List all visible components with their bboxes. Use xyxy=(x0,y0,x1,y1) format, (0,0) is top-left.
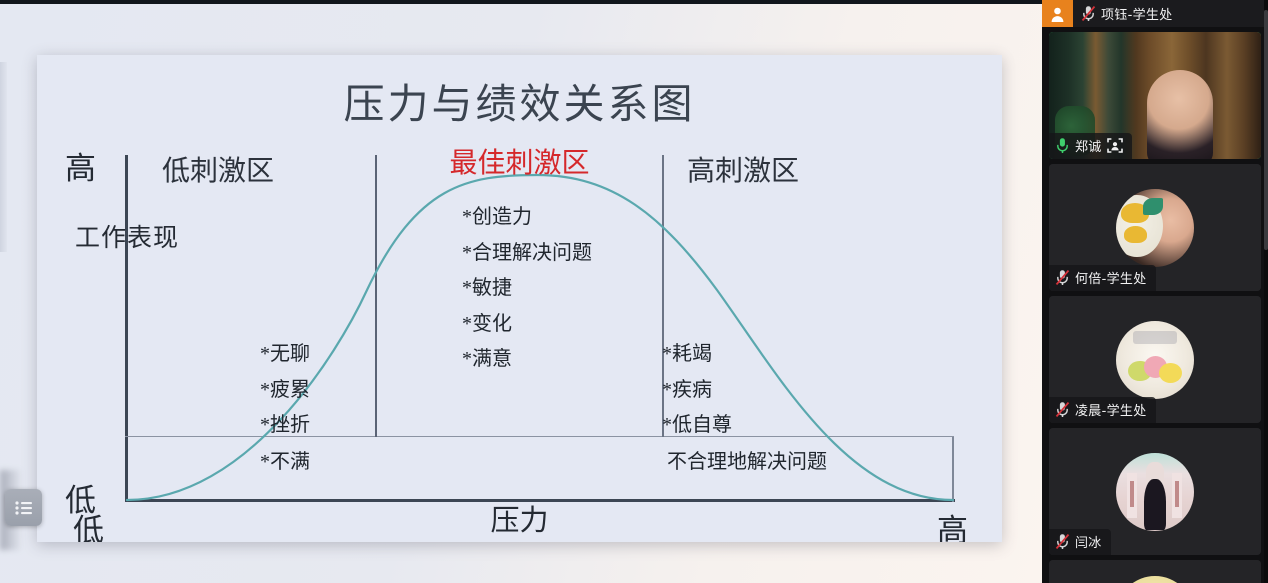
bullet-item: *耗竭 xyxy=(662,337,732,373)
participant-namebar: 闫冰 xyxy=(1049,529,1111,555)
bullet-item: *满意 xyxy=(462,342,592,378)
y-axis-title: 工作表现 xyxy=(75,225,101,253)
footer-note-high: 不合理地解决问题 xyxy=(667,445,827,474)
participant-tile[interactable]: 凌晨-学生处 xyxy=(1049,296,1261,423)
participant-name: 凌晨-学生处 xyxy=(1075,400,1147,419)
participant-tile-partial-bottom[interactable] xyxy=(1049,560,1261,583)
avatar xyxy=(1116,321,1194,399)
avatar xyxy=(1042,0,1073,27)
video-thumbnail xyxy=(1049,560,1261,583)
participant-name: 闫冰 xyxy=(1075,532,1102,551)
participant-tile[interactable]: 闫冰 xyxy=(1049,428,1261,555)
zone-label-optimal: 最佳刺激区 xyxy=(37,141,1002,181)
participant-tile-active-speaker[interactable]: 郑诚 xyxy=(1049,32,1261,159)
participant-namebar: 项钰-学生处 xyxy=(1073,4,1173,23)
footer-note-low: *不满 xyxy=(260,445,310,474)
presentation-slide[interactable]: 压力与绩效关系图 高 工作表现 低 低 xyxy=(37,55,1002,542)
mic-muted-icon xyxy=(1055,269,1070,286)
bullet-item: *变化 xyxy=(462,307,592,343)
participant-name: 郑诚 xyxy=(1075,136,1102,155)
bullet-item: *合理解决问题 xyxy=(462,236,592,272)
list-menu-icon-button[interactable] xyxy=(5,489,42,526)
participant-name: 项钰-学生处 xyxy=(1101,4,1173,23)
mic-muted-icon xyxy=(1055,533,1070,550)
bullets-low-zone: *无聊 *疲累 *挫折 xyxy=(260,337,310,444)
participant-tile[interactable]: 何倍-学生处 xyxy=(1049,164,1261,291)
person-icon xyxy=(1050,6,1065,22)
shared-screen-area[interactable]: 压力与绩效关系图 高 工作表现 低 低 xyxy=(0,0,1042,583)
bullets-optimal-zone: *创造力 *合理解决问题 *敏捷 *变化 *满意 xyxy=(462,200,592,378)
focus-frame-icon[interactable] xyxy=(1107,138,1123,153)
participant-namebar: 何倍-学生处 xyxy=(1049,265,1156,291)
participant-tile-partial-top[interactable]: 项钰-学生处 xyxy=(1042,0,1268,27)
participant-filmstrip[interactable]: 项钰-学生处 郑诚 xyxy=(1042,0,1268,583)
participant-name: 何倍-学生处 xyxy=(1075,268,1147,287)
avatar xyxy=(1116,189,1194,267)
scrollbar-thumb[interactable] xyxy=(1264,10,1268,250)
bullet-item: *疲累 xyxy=(260,373,310,409)
participant-namebar: 凌晨-学生处 xyxy=(1049,397,1156,423)
filmstrip-scrollbar[interactable] xyxy=(1264,0,1268,583)
bullet-item: *无聊 xyxy=(260,337,310,373)
mic-muted-icon xyxy=(1055,401,1070,418)
x-axis-title: 压力 xyxy=(37,497,1002,539)
bullet-item: *创造力 xyxy=(462,200,592,236)
stress-performance-chart: 高 工作表现 低 低 高 压力 低刺激区 最佳刺激区 高刺激区 *无聊 *疲累 … xyxy=(37,55,1002,542)
bullet-item: *疾病 xyxy=(662,373,732,409)
shared-screen-topbar xyxy=(0,0,1042,4)
bullet-item: *挫折 xyxy=(260,408,310,444)
zone-label-high: 高刺激区 xyxy=(687,149,799,189)
bullet-item: *敏捷 xyxy=(462,271,592,307)
meeting-window: 压力与绩效关系图 高 工作表现 低 低 xyxy=(0,0,1268,583)
bullets-high-zone: *耗竭 *疾病 *低自尊 xyxy=(662,337,732,444)
mic-unmuted-icon xyxy=(1055,137,1070,154)
mic-muted-icon xyxy=(1081,5,1096,22)
bullet-item: *低自尊 xyxy=(662,408,732,444)
shared-screen-left-edge xyxy=(0,62,7,252)
list-menu-icon xyxy=(14,500,34,516)
avatar xyxy=(1116,453,1194,531)
participant-namebar: 郑诚 xyxy=(1049,133,1132,159)
